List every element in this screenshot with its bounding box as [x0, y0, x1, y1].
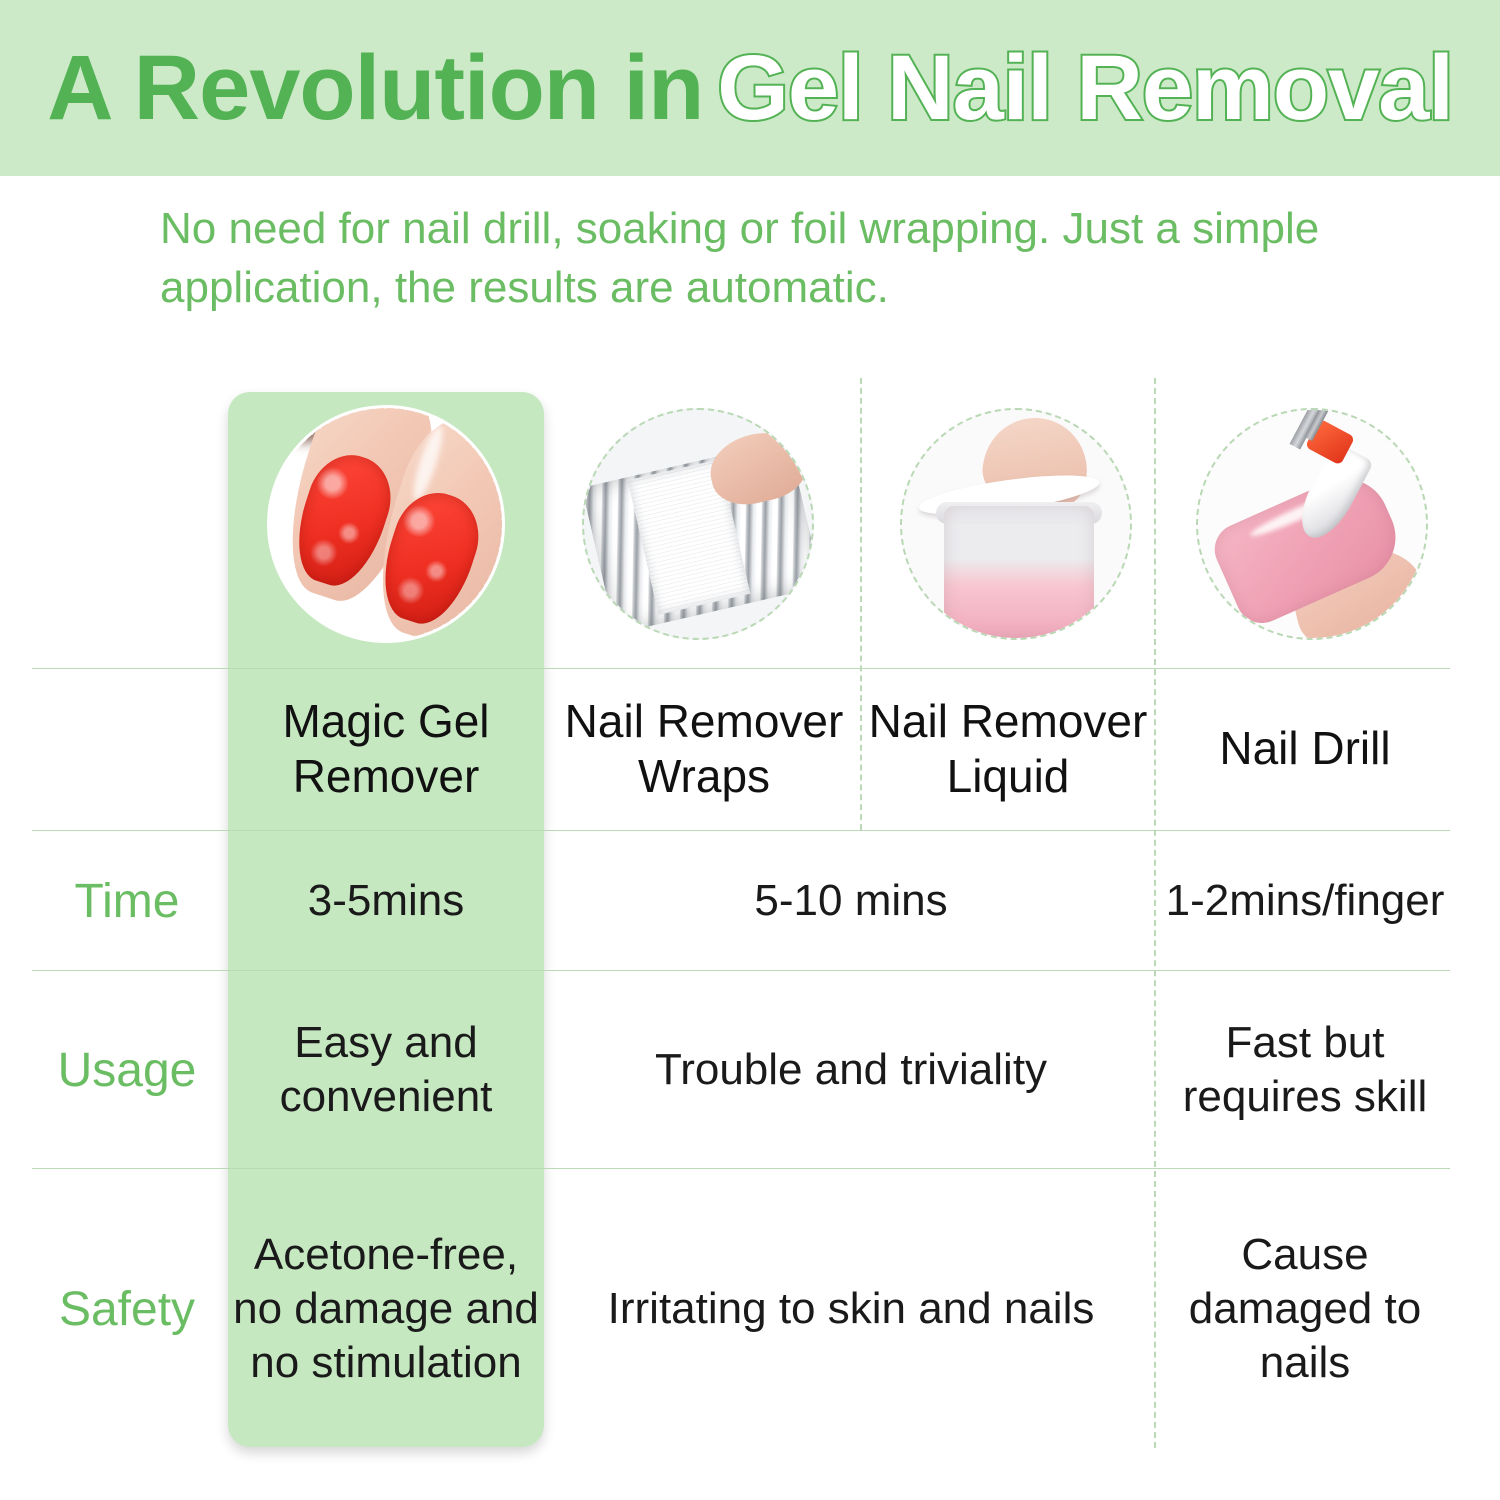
table-rule-time — [32, 970, 1450, 971]
cell-time-nail-drill: 1-2mins/finger — [1160, 832, 1450, 970]
cell-time-magic-gel-remover: 3-5mins — [228, 832, 544, 970]
page-title-part-2: Gel Nail Removal — [717, 37, 1453, 139]
cell-safety-wraps-and-liquid: Irritating to skin and nails — [552, 1170, 1150, 1448]
table-rule-top — [32, 668, 1450, 669]
infographic-page: A Revolution inGel Nail Removal No need … — [0, 0, 1500, 1500]
comparison-table: Magic Gel Remover Nail Remover Wraps Nai… — [32, 378, 1450, 1448]
column-header-nail-drill: Nail Drill — [1160, 670, 1450, 828]
column-header-nail-remover-liquid: Nail Remover Liquid — [866, 670, 1150, 828]
cell-safety-magic-gel-remover: Acetone-free, no damage and no stimulati… — [228, 1170, 544, 1448]
page-title-part-1: A Revolution in — [47, 37, 703, 139]
column-header-nail-remover-wraps: Nail Remover Wraps — [552, 670, 856, 828]
column-header-magic-gel-remover: Magic Gel Remover — [228, 670, 544, 828]
subtitle-text: No need for nail drill, soaking or foil … — [160, 200, 1360, 317]
table-rule-usage — [32, 1168, 1450, 1169]
table-rule-header — [32, 830, 1450, 831]
cell-time-wraps-and-liquid: 5-10 mins — [552, 832, 1150, 970]
cell-usage-nail-drill: Fast but requires skill — [1160, 972, 1450, 1168]
row-label-usage: Usage — [32, 972, 222, 1168]
row-label-time: Time — [32, 832, 222, 970]
divider-liquid-drill — [1154, 378, 1156, 1448]
cell-usage-magic-gel-remover: Easy and convenient — [228, 972, 544, 1168]
divider-wraps-liquid — [860, 378, 862, 830]
page-title: A Revolution inGel Nail Removal — [47, 36, 1453, 141]
cell-usage-wraps-and-liquid: Trouble and triviality — [552, 972, 1150, 1168]
header-banner: A Revolution inGel Nail Removal — [0, 0, 1500, 176]
cell-safety-nail-drill: Cause damaged to nails — [1160, 1170, 1450, 1448]
row-label-safety: Safety — [32, 1170, 222, 1448]
